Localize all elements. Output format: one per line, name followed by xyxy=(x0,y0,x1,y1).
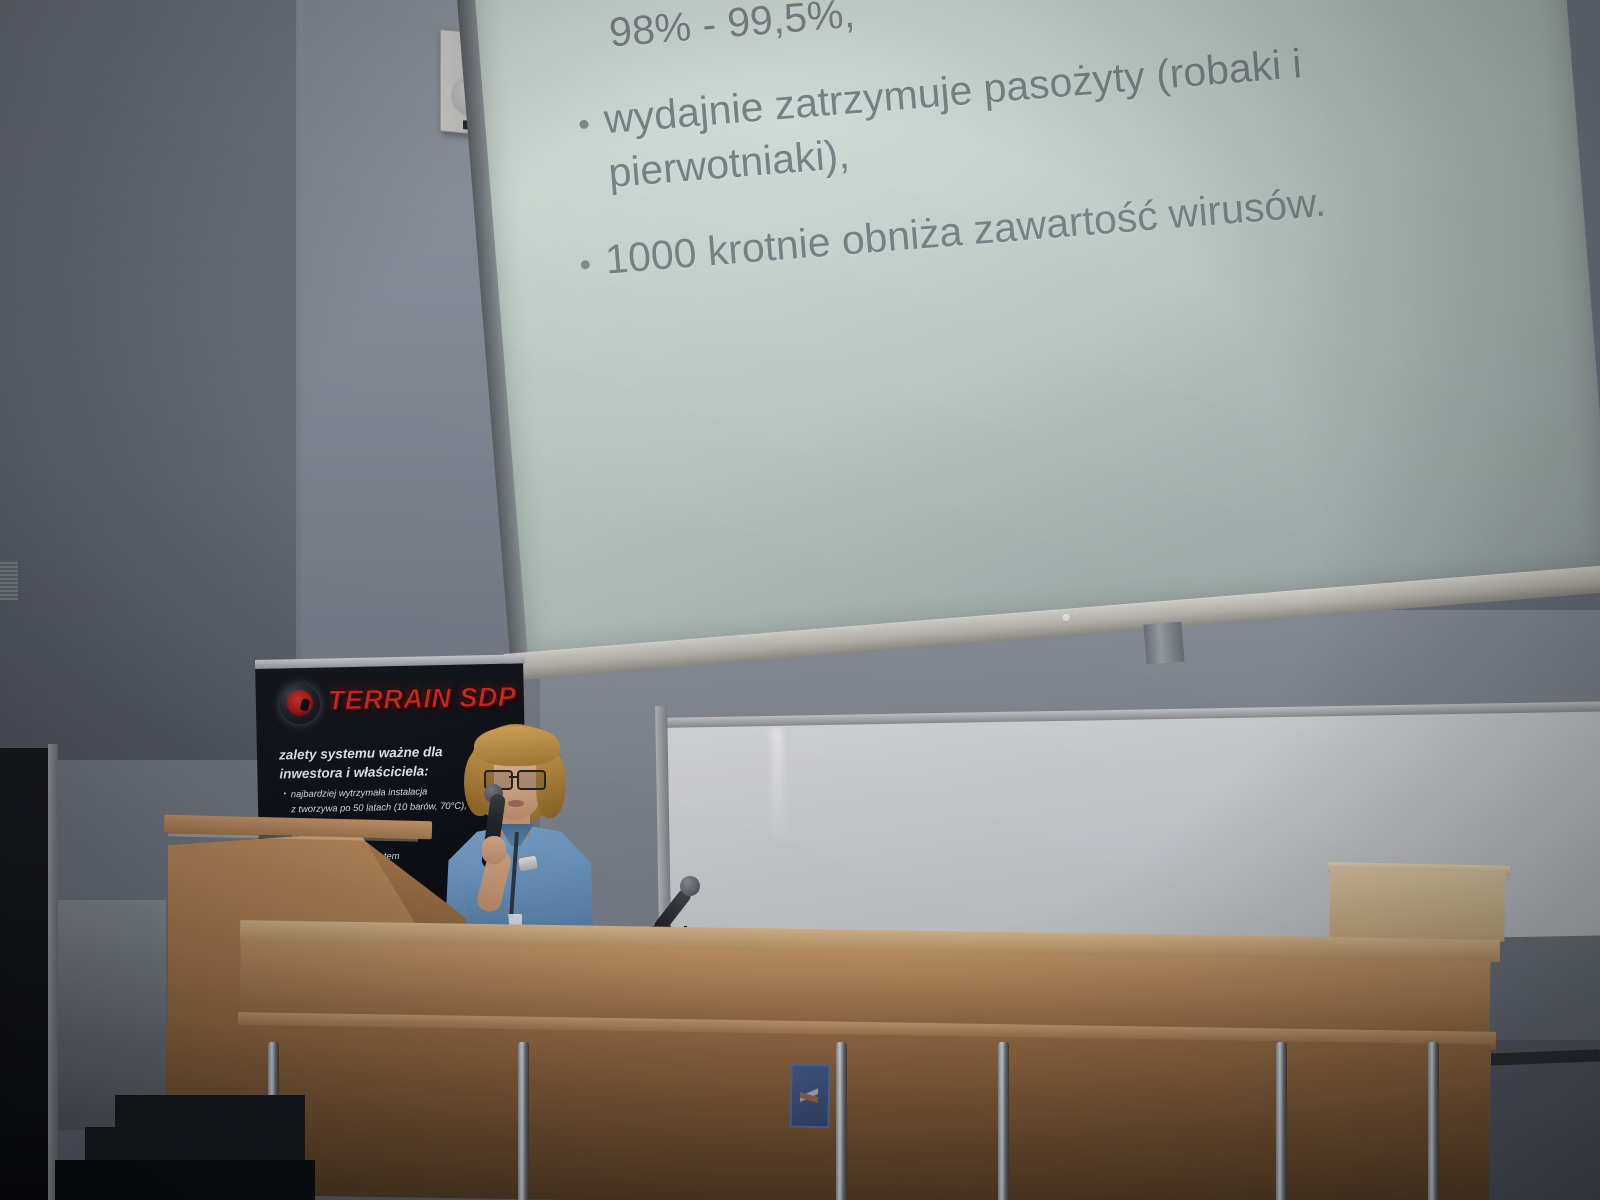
terrain-logo-icon xyxy=(280,684,321,725)
terrain-logo-notch xyxy=(300,698,311,712)
projection-screen-surface: powoduje pop zakresie barwy, mętności, e… xyxy=(463,0,1600,658)
step xyxy=(115,1095,305,1129)
desk-emblem xyxy=(789,1064,830,1129)
step xyxy=(85,1127,305,1163)
wall-corner-edge xyxy=(296,0,302,770)
desk-leg xyxy=(518,1042,529,1200)
projection-screen: powoduje pop zakresie barwy, mętności, e… xyxy=(505,0,1600,710)
bullet-dot-icon xyxy=(579,120,589,130)
door[interactable] xyxy=(0,748,52,1200)
desk-leg xyxy=(998,1042,1009,1200)
floor xyxy=(55,1160,315,1200)
projection-screen-mount xyxy=(1143,622,1184,665)
glasses-bridge xyxy=(509,776,517,778)
left-wall xyxy=(0,0,300,760)
desk-riser xyxy=(1329,868,1505,942)
desk-microphone-head xyxy=(680,876,700,896)
projection-screen-frame: powoduje pop zakresie barwy, mętności, e… xyxy=(441,0,1600,670)
desk-leg xyxy=(836,1042,847,1200)
whiteboard-highlight xyxy=(771,728,785,848)
presentation-photo-scene: powoduje pop zakresie barwy, mętności, e… xyxy=(0,0,1600,1200)
glasses-lens-right xyxy=(517,770,546,790)
slide-bullet-3-text: wydajnie zatrzymuje pasożyty (robaki i p… xyxy=(602,36,1308,200)
presenter-desk xyxy=(130,930,1600,1200)
presenter-mouth xyxy=(508,800,524,807)
banner-bullet-dot-icon xyxy=(284,792,286,794)
terrain-logo-inner xyxy=(287,690,314,717)
bullet-dot-icon xyxy=(580,260,590,270)
presenter-hair-fringe xyxy=(474,726,560,766)
slide-text-block: powoduje pop zakresie barwy, mętności, e… xyxy=(463,0,1600,658)
banner-brand-text: TERRAIN SDP xyxy=(328,682,517,717)
slide-bullet-3: wydajnie zatrzymuje pasożyty (robaki i p… xyxy=(577,36,1308,202)
vent-grille-icon xyxy=(0,560,19,600)
desk-leg xyxy=(1276,1042,1287,1200)
presenter-hand xyxy=(482,836,506,864)
desk-leg xyxy=(1428,1042,1439,1200)
